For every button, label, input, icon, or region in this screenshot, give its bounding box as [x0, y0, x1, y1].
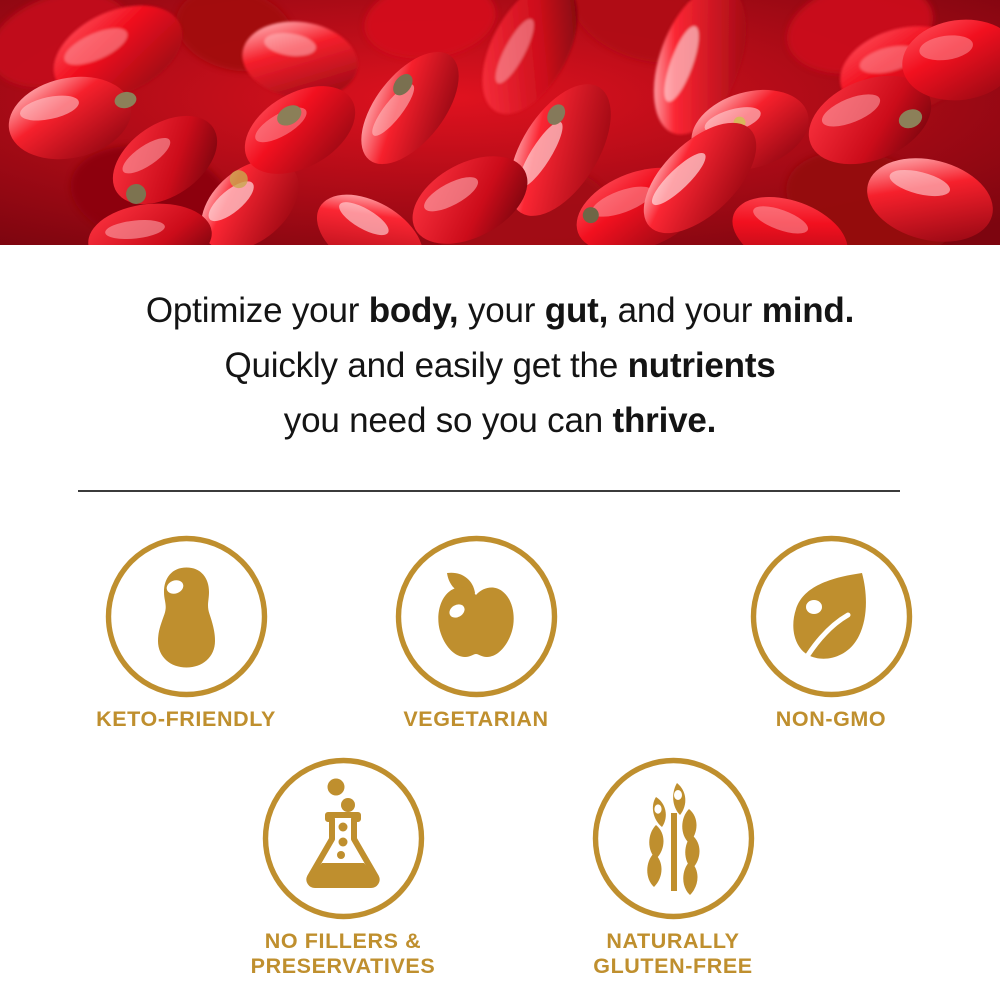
headline-emphasis-gut: gut,: [545, 291, 608, 330]
section-divider: [78, 490, 900, 492]
flask-icon: [262, 757, 425, 920]
apple-icon: [395, 535, 558, 698]
headline-l1-part-c: your: [458, 291, 544, 330]
red-berries-photo: [0, 0, 1000, 245]
badge-no-fillers: NO FILLERS & PRESERVATIVES: [228, 757, 458, 979]
badge-vegetarian: VEGETARIAN: [361, 535, 591, 732]
headline-line-1: Optimize your body, your gut, and your m…: [0, 283, 1000, 338]
berries-illustration: [0, 0, 1000, 245]
headline-text: Optimize your body, your gut, and your m…: [0, 283, 1000, 448]
leaf-icon: [750, 535, 913, 698]
headline-l3-part-a: you need so you can: [284, 401, 613, 440]
headline-emphasis-thrive: thrive.: [613, 401, 717, 440]
headline-l2-part-a: Quickly and easily get the: [224, 346, 627, 385]
headline-emphasis-mind: mind.: [762, 291, 854, 330]
wheat-icon: [592, 757, 755, 920]
badge-label-gluten-free: NATURALLY GLUTEN-FREE: [558, 929, 788, 979]
headline-line-3: you need so you can thrive.: [0, 393, 1000, 448]
badge-label-no-fillers: NO FILLERS & PRESERVATIVES: [228, 929, 458, 979]
headline-l1-part-e: and your: [608, 291, 762, 330]
headline-emphasis-body: body,: [369, 291, 459, 330]
badge-keto-friendly: KETO-FRIENDLY: [71, 535, 301, 732]
badge-label-vegetarian: VEGETARIAN: [361, 707, 591, 732]
headline-l1-part-a: Optimize your: [146, 291, 369, 330]
product-benefits-infographic: Optimize your body, your gut, and your m…: [0, 0, 1000, 1000]
headline-line-2: Quickly and easily get the nutrients: [0, 338, 1000, 393]
headline-emphasis-nutrients: nutrients: [628, 346, 776, 385]
avocado-icon: [105, 535, 268, 698]
badge-non-gmo: NON-GMO: [716, 535, 946, 732]
badge-label-non-gmo: NON-GMO: [716, 707, 946, 732]
badge-gluten-free: NATURALLY GLUTEN-FREE: [558, 757, 788, 979]
badge-label-keto-friendly: KETO-FRIENDLY: [71, 707, 301, 732]
